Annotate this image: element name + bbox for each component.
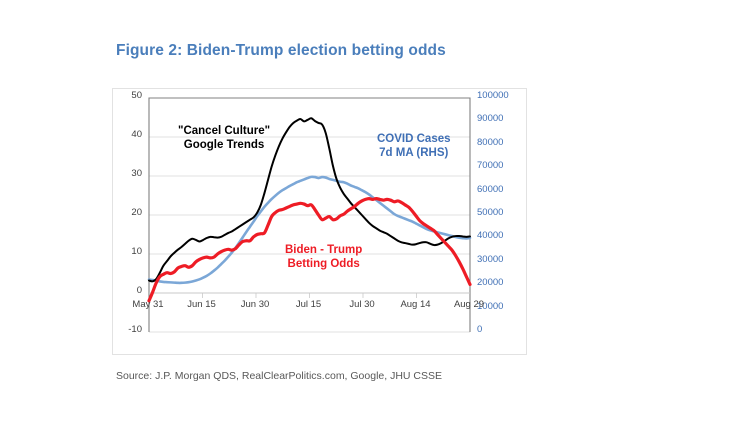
y-axis-right-tick: 50000 [477, 207, 503, 218]
annotation-google-trends-line1: "Cancel Culture" [178, 124, 270, 138]
annotation-google-trends: "Cancel Culture" Google Trends [178, 124, 270, 152]
annotation-covid-cases: COVID Cases 7d MA (RHS) [377, 132, 451, 160]
chart-card [112, 88, 527, 355]
chart-plot [113, 89, 528, 356]
y-axis-right-tick: 20000 [477, 277, 503, 288]
x-axis-tick: Jul 15 [283, 299, 335, 310]
y-axis-right-tick: 30000 [477, 254, 503, 265]
x-axis-tick: May 31 [122, 299, 174, 310]
y-axis-left-tick: 30 [114, 168, 142, 179]
annotation-google-trends-line2: Google Trends [178, 138, 270, 152]
x-axis-tick: Aug 29 [443, 299, 495, 310]
y-axis-right-tick: 0 [477, 324, 482, 335]
y-axis-left-tick: -10 [114, 324, 142, 335]
y-axis-right-tick: 80000 [477, 137, 503, 148]
x-axis-tick: Jul 30 [336, 299, 388, 310]
y-axis-right-tick: 40000 [477, 230, 503, 241]
y-axis-left-tick: 20 [114, 207, 142, 218]
x-axis-tick: Aug 14 [390, 299, 442, 310]
annotation-betting-odds-line1: Biden - Trump [285, 243, 362, 257]
page-title: Figure 2: Biden-Trump election betting o… [116, 42, 446, 60]
figure-container: Figure 2: Biden-Trump election betting o… [0, 0, 740, 448]
y-axis-left-tick: 0 [114, 285, 142, 296]
y-axis-right-tick: 60000 [477, 184, 503, 195]
x-axis-tick: Jun 30 [229, 299, 281, 310]
y-axis-right-tick: 90000 [477, 113, 503, 124]
y-axis-left-tick: 40 [114, 129, 142, 140]
y-axis-right-tick: 70000 [477, 160, 503, 171]
annotation-betting-odds-line2: Betting Odds [285, 257, 362, 271]
x-axis-tick: Jun 15 [176, 299, 228, 310]
annotation-covid-cases-line1: COVID Cases [377, 132, 451, 146]
annotation-betting-odds: Biden - Trump Betting Odds [285, 243, 362, 271]
annotation-covid-cases-line2: 7d MA (RHS) [377, 146, 451, 160]
y-axis-right-tick: 100000 [477, 90, 509, 101]
y-axis-left-tick: 10 [114, 246, 142, 257]
y-axis-left-tick: 50 [114, 90, 142, 101]
source-note: Source: J.P. Morgan QDS, RealClearPoliti… [116, 370, 442, 382]
